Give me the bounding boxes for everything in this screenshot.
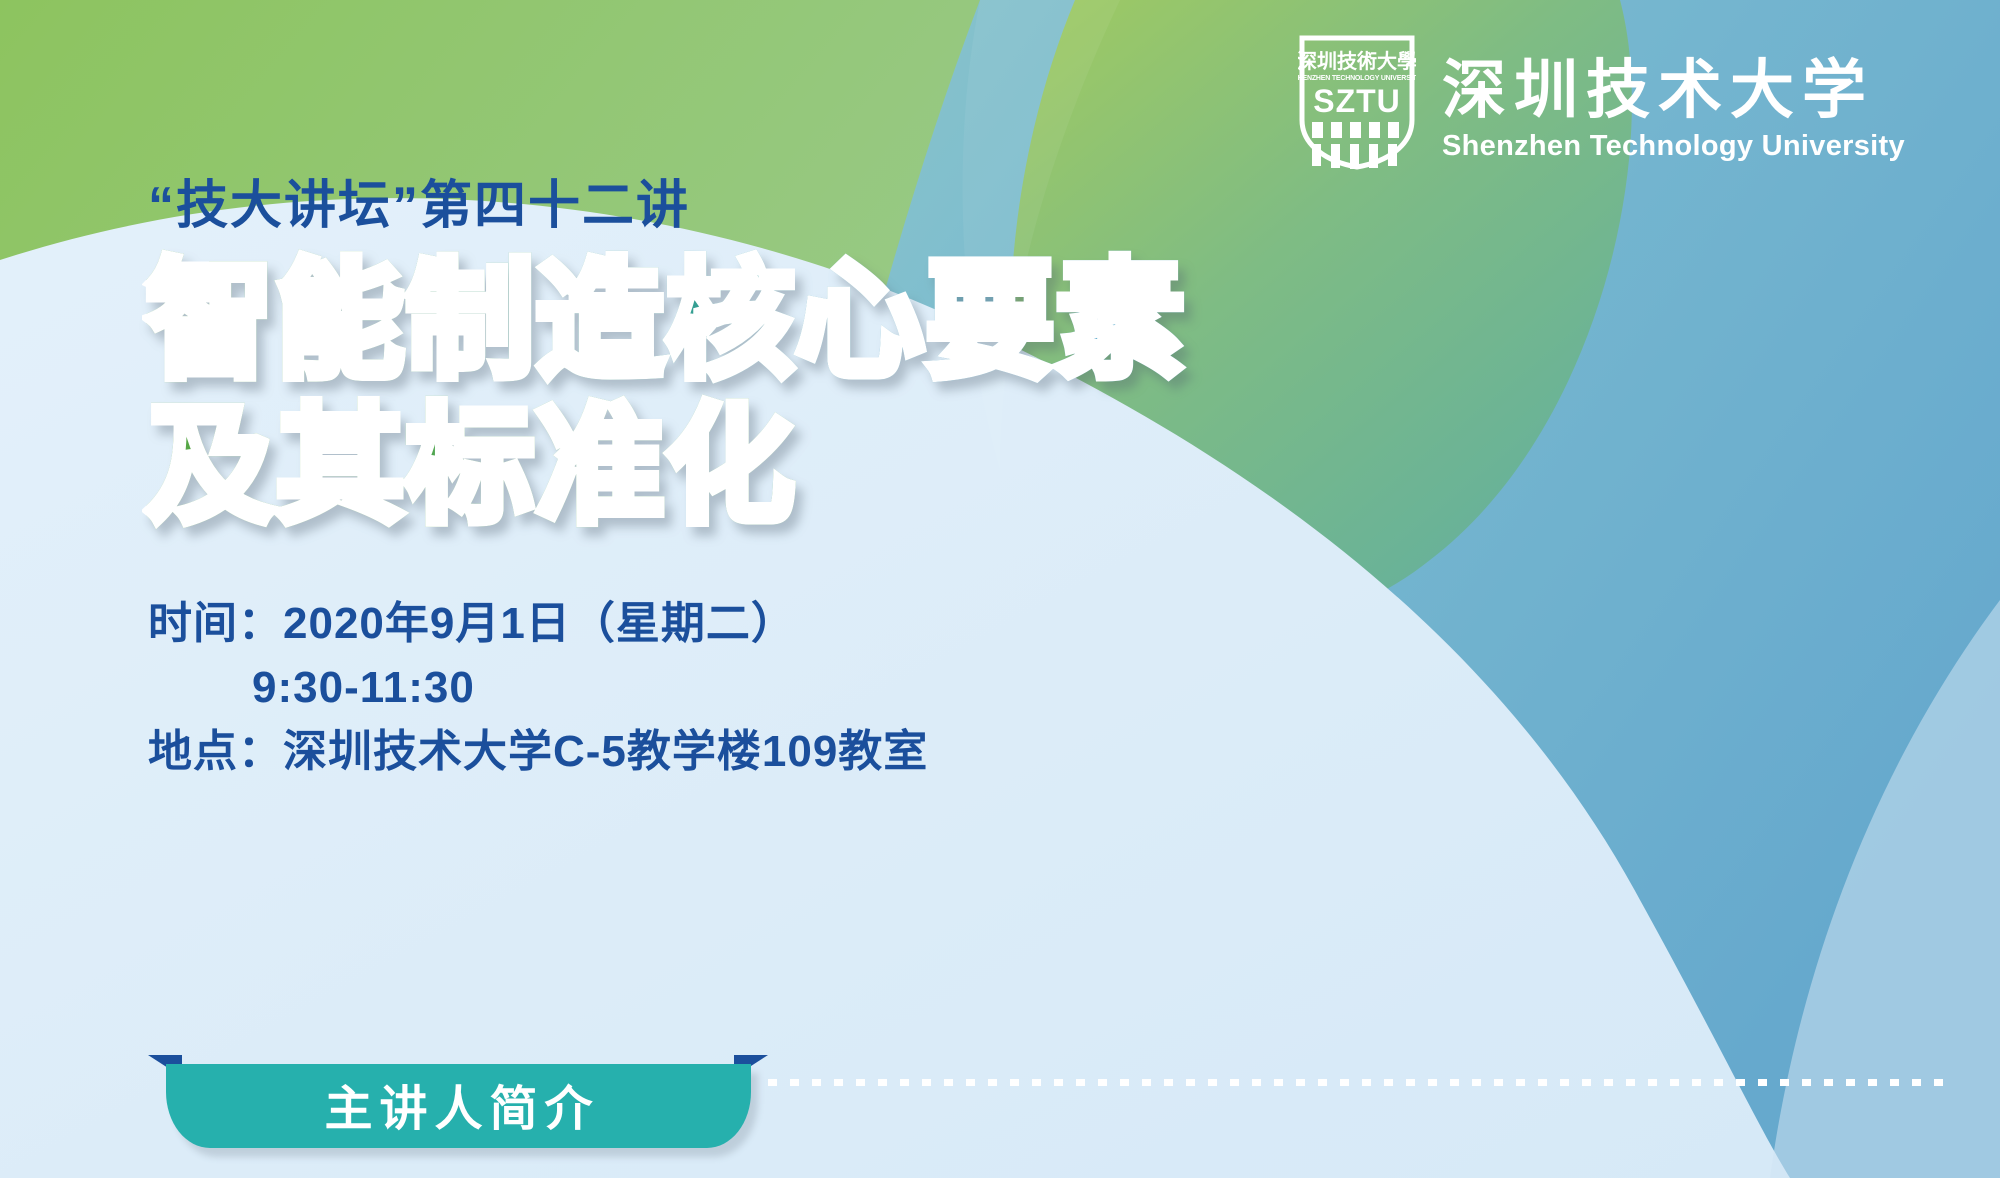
shield-cn-text: 深圳技術大學 [1298, 49, 1416, 73]
university-name-cn: 深圳技术大学 [1442, 57, 1905, 124]
event-venue-row: 地点：深圳技术大学C-5教学楼109教室 [148, 720, 928, 784]
university-logo: 深圳技術大學 SHENZHEN TECHNOLOGY UNIVERSITY SZ… [1298, 34, 1905, 170]
shield-en-text: SHENZHEN TECHNOLOGY UNIVERSITY [1298, 75, 1416, 82]
event-time-row: 9:30-11:30 [148, 656, 928, 720]
speaker-intro-label: 主讲人简介 [317, 1069, 599, 1143]
event-date-row: 时间：2020年9月1日（星期二） [148, 592, 928, 656]
event-details: 时间：2020年9月1日（星期二） 9:30-11:30 地点：深圳技术大学C-… [148, 592, 928, 783]
university-name-en: Shenzhen Technology University [1442, 128, 1905, 164]
speaker-intro-section: 主讲人简介 [148, 1055, 1948, 1145]
title-line-1: 智能制造核心要素 [146, 246, 1326, 397]
poster-title: 智能制造核心要素 及其标准化 [146, 246, 1326, 542]
event-poster: 深圳技術大學 SHENZHEN TECHNOLOGY UNIVERSITY SZ… [0, 0, 2000, 1178]
university-name-block: 深圳技术大学 Shenzhen Technology University [1442, 39, 1905, 164]
speaker-intro-banner: 主讲人简介 [166, 1064, 751, 1148]
shield-bars-icon [1312, 122, 1399, 169]
dashed-divider [768, 1079, 1948, 1086]
title-line-2: 及其标准化 [146, 391, 1326, 542]
sztu-shield-icon: 深圳技術大學 SHENZHEN TECHNOLOGY UNIVERSITY SZ… [1298, 34, 1416, 170]
lecture-series-label: “技大讲坛”第四十二讲 [148, 163, 690, 238]
shield-acronym-text: SZTU [1313, 83, 1401, 119]
